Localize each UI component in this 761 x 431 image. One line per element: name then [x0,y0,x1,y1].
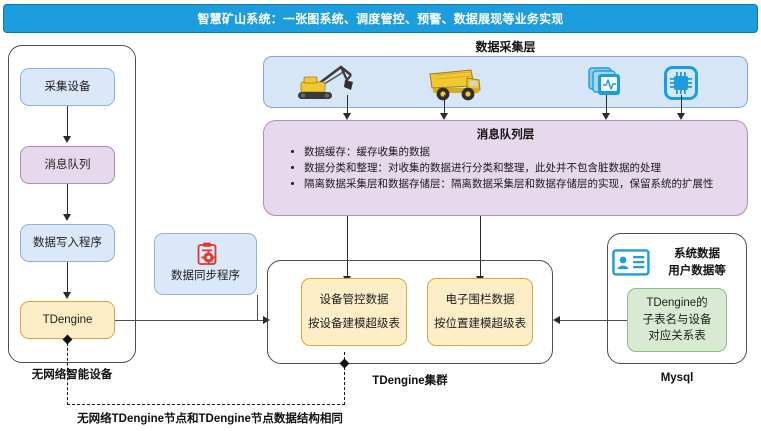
clipboard-gear-icon [196,242,218,266]
diagram-canvas: 智慧矿山系统：一张图系统、调度管控、预警、数据展现等业务实现 采集设备 消息队列… [0,0,761,431]
connector-line [67,184,68,216]
dashed-connector [67,343,68,405]
connector-line [606,95,607,115]
arrow-head [63,214,71,221]
page-title: 智慧矿山系统：一张图系统、调度管控、预警、数据展现等业务实现 [197,10,563,27]
node-collect-device[interactable]: 采集设备 [20,68,115,106]
connector-line [67,106,68,138]
id-card-icon [612,249,650,276]
mysql-caption-line1: 系统数据 [654,246,740,263]
footnote-label: 无网络TDengine节点和TDengine节点数据结构相同 [50,410,370,426]
arrow-head [602,113,610,120]
arrow-head [553,316,560,324]
connector-line [257,295,258,320]
group-label-offline-device: 无网络智能设备 [8,366,136,382]
mq-bullet-list: 数据缓存：缓存收集的数据 数据分类和整理：对收集的数据进行分类和整理，此处并不包… [286,145,737,193]
node-data-sync-program[interactable]: 数据同步程序 [154,233,257,295]
node-label: 采集设备 [45,79,91,96]
node-label: 数据写入程序 [33,235,102,252]
arrow-head [677,113,685,120]
node-label-line1: 设备管控数据 [320,292,389,309]
node-label-line1: TDengine的 [646,295,707,312]
arrow-head [440,113,448,120]
connector-line [347,95,348,115]
mq-bullet-item: 数据缓存：缓存收集的数据 [304,145,737,161]
node-label: TDengine [43,312,93,329]
collect-layer-title: 数据采集层 [263,38,748,55]
node-mapping-table[interactable]: TDengine的 子表名与设备 对应关系表 [627,288,727,352]
mining-truck-icon [427,64,483,104]
mysql-caption: 系统数据 用户数据等 [654,246,740,281]
mq-layer-title: 消息队列层 [264,126,747,142]
node-data-writer[interactable]: 数据写入程序 [20,224,115,262]
arrow-head [63,136,71,143]
group-label-tdengine-cluster: TDengine集群 [320,372,500,388]
node-geofence-data[interactable]: 电子围栏数据 按位置建模超级表 [427,278,533,346]
panel-message-queue-layer: 消息队列层 数据缓存：缓存收集的数据 数据分类和整理：对收集的数据进行分类和整理… [263,120,748,216]
node-label-line1: 电子围栏数据 [446,292,515,309]
connector-line [115,320,267,321]
node-label: 数据同步程序 [171,268,240,285]
mq-bullet-item: 数据分类和整理：对收集的数据进行分类和整理，此处并不包含脏数据的处理 [304,161,737,177]
node-label-line2: 按位置建模超级表 [434,316,526,333]
connector-line [681,95,682,115]
connector-line [560,320,627,321]
connector-line [67,262,68,294]
mysql-caption-line2: 用户数据等 [654,263,740,280]
node-label-line2: 按设备建模超级表 [308,316,400,333]
dashed-connector [67,404,345,405]
connector-line [444,95,445,115]
node-label-line2: 子表名与设备 [643,312,712,329]
node-label: 消息队列 [45,157,91,174]
header-banner: 智慧矿山系统：一张图系统、调度管控、预警、数据展现等业务实现 [3,4,758,33]
node-device-control-data[interactable]: 设备管控数据 按设备建模超级表 [301,278,407,346]
node-tdengine-local[interactable]: TDengine [20,301,115,339]
node-label-line3: 对应关系表 [648,328,706,345]
arrow-head [63,292,71,299]
node-message-queue[interactable]: 消息队列 [20,146,115,184]
mq-bullet-item: 隔离数据采集层和数据存储层：隔离数据采集层和数据存储层的实现，保留系统的扩展性 [304,177,737,193]
arrow-head [343,113,351,120]
group-label-mysql: Mysql [607,372,747,384]
